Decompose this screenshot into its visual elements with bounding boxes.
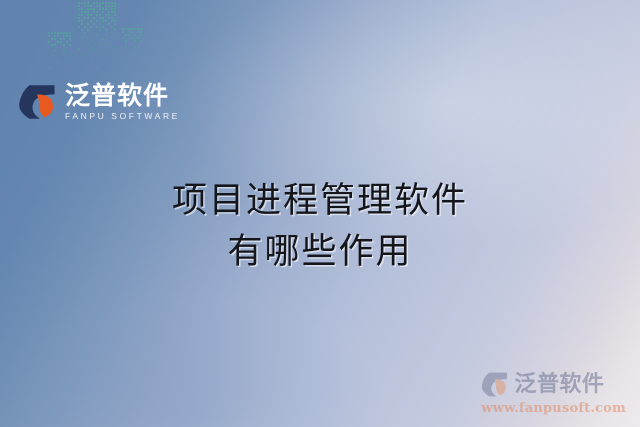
fanpu-logo-icon — [18, 83, 56, 121]
watermark-url: www.fanpusoft.com — [481, 401, 626, 416]
page-title: 项目进程管理软件 有哪些作用 — [0, 176, 640, 278]
brand-name-cn: 泛普软件 — [65, 83, 169, 109]
page-title-line-2: 有哪些作用 — [0, 227, 640, 278]
pixel-skyline-decoration — [44, 0, 164, 80]
watermark: 泛普软件 www.fanpusoft.com — [481, 371, 626, 416]
watermark-name-cn: 泛普软件 — [514, 374, 604, 396]
brand-wordmark: 泛普软件 FANPU SOFTWARE — [65, 83, 180, 121]
page-title-line-1: 项目进程管理软件 — [0, 176, 640, 227]
promo-banner: 泛普软件 FANPU SOFTWARE 项目进程管理软件 有哪些作用 泛普软件 … — [0, 0, 640, 427]
pixel-skyline-icon — [44, 0, 164, 80]
brand-logo: 泛普软件 FANPU SOFTWARE — [18, 83, 180, 121]
watermark-logo: 泛普软件 — [481, 371, 626, 398]
brand-name-en: FANPU SOFTWARE — [65, 112, 180, 121]
fanpu-logo-icon — [481, 371, 508, 398]
